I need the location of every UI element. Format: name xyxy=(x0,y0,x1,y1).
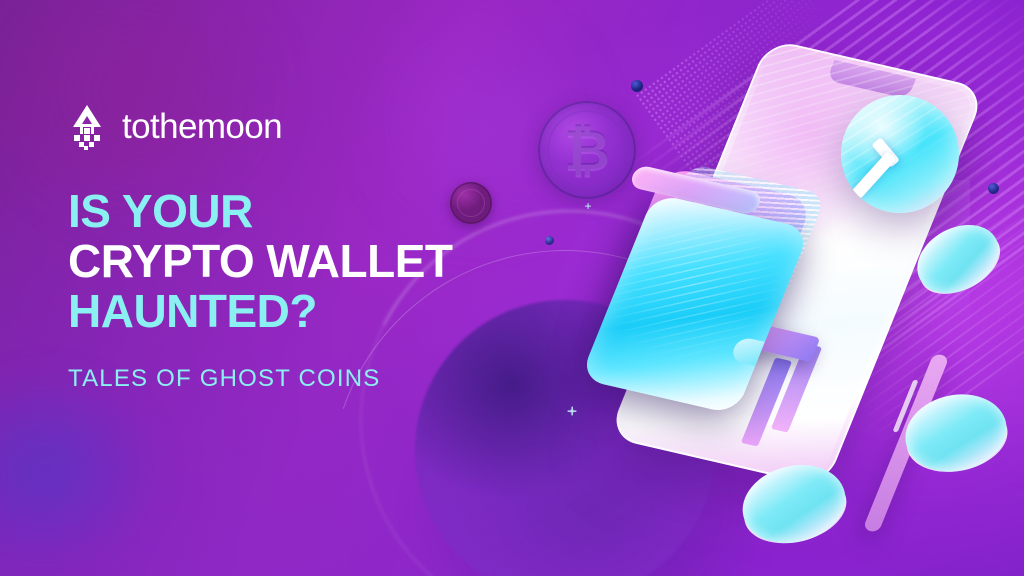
promo-banner: ₿ xyxy=(0,0,1024,576)
brand-name: tothemoon xyxy=(122,107,282,147)
rocket-pixel-icon xyxy=(68,104,106,150)
headline: IS YOUR CRYPTO WALLET HAUNTED? xyxy=(68,186,453,336)
brand-logo[interactable]: tothemoon xyxy=(68,104,282,150)
decorative-dot xyxy=(988,183,999,194)
headline-line-1: IS YOUR xyxy=(68,186,453,236)
check-circle-icon xyxy=(841,95,959,213)
sparkle-icon xyxy=(585,203,591,209)
wallet-isometric-icon xyxy=(612,170,862,440)
subtitle: TALES OF GHOST COINS xyxy=(68,365,381,393)
sparkle-icon xyxy=(568,407,576,415)
checkmark-icon xyxy=(868,125,930,161)
coin-ring xyxy=(457,189,485,217)
headline-line-3: HAUNTED? xyxy=(68,286,453,336)
headline-line-2: CRYPTO WALLET xyxy=(68,236,453,286)
small-coin-icon xyxy=(450,182,492,224)
decorative-dot xyxy=(545,236,554,245)
